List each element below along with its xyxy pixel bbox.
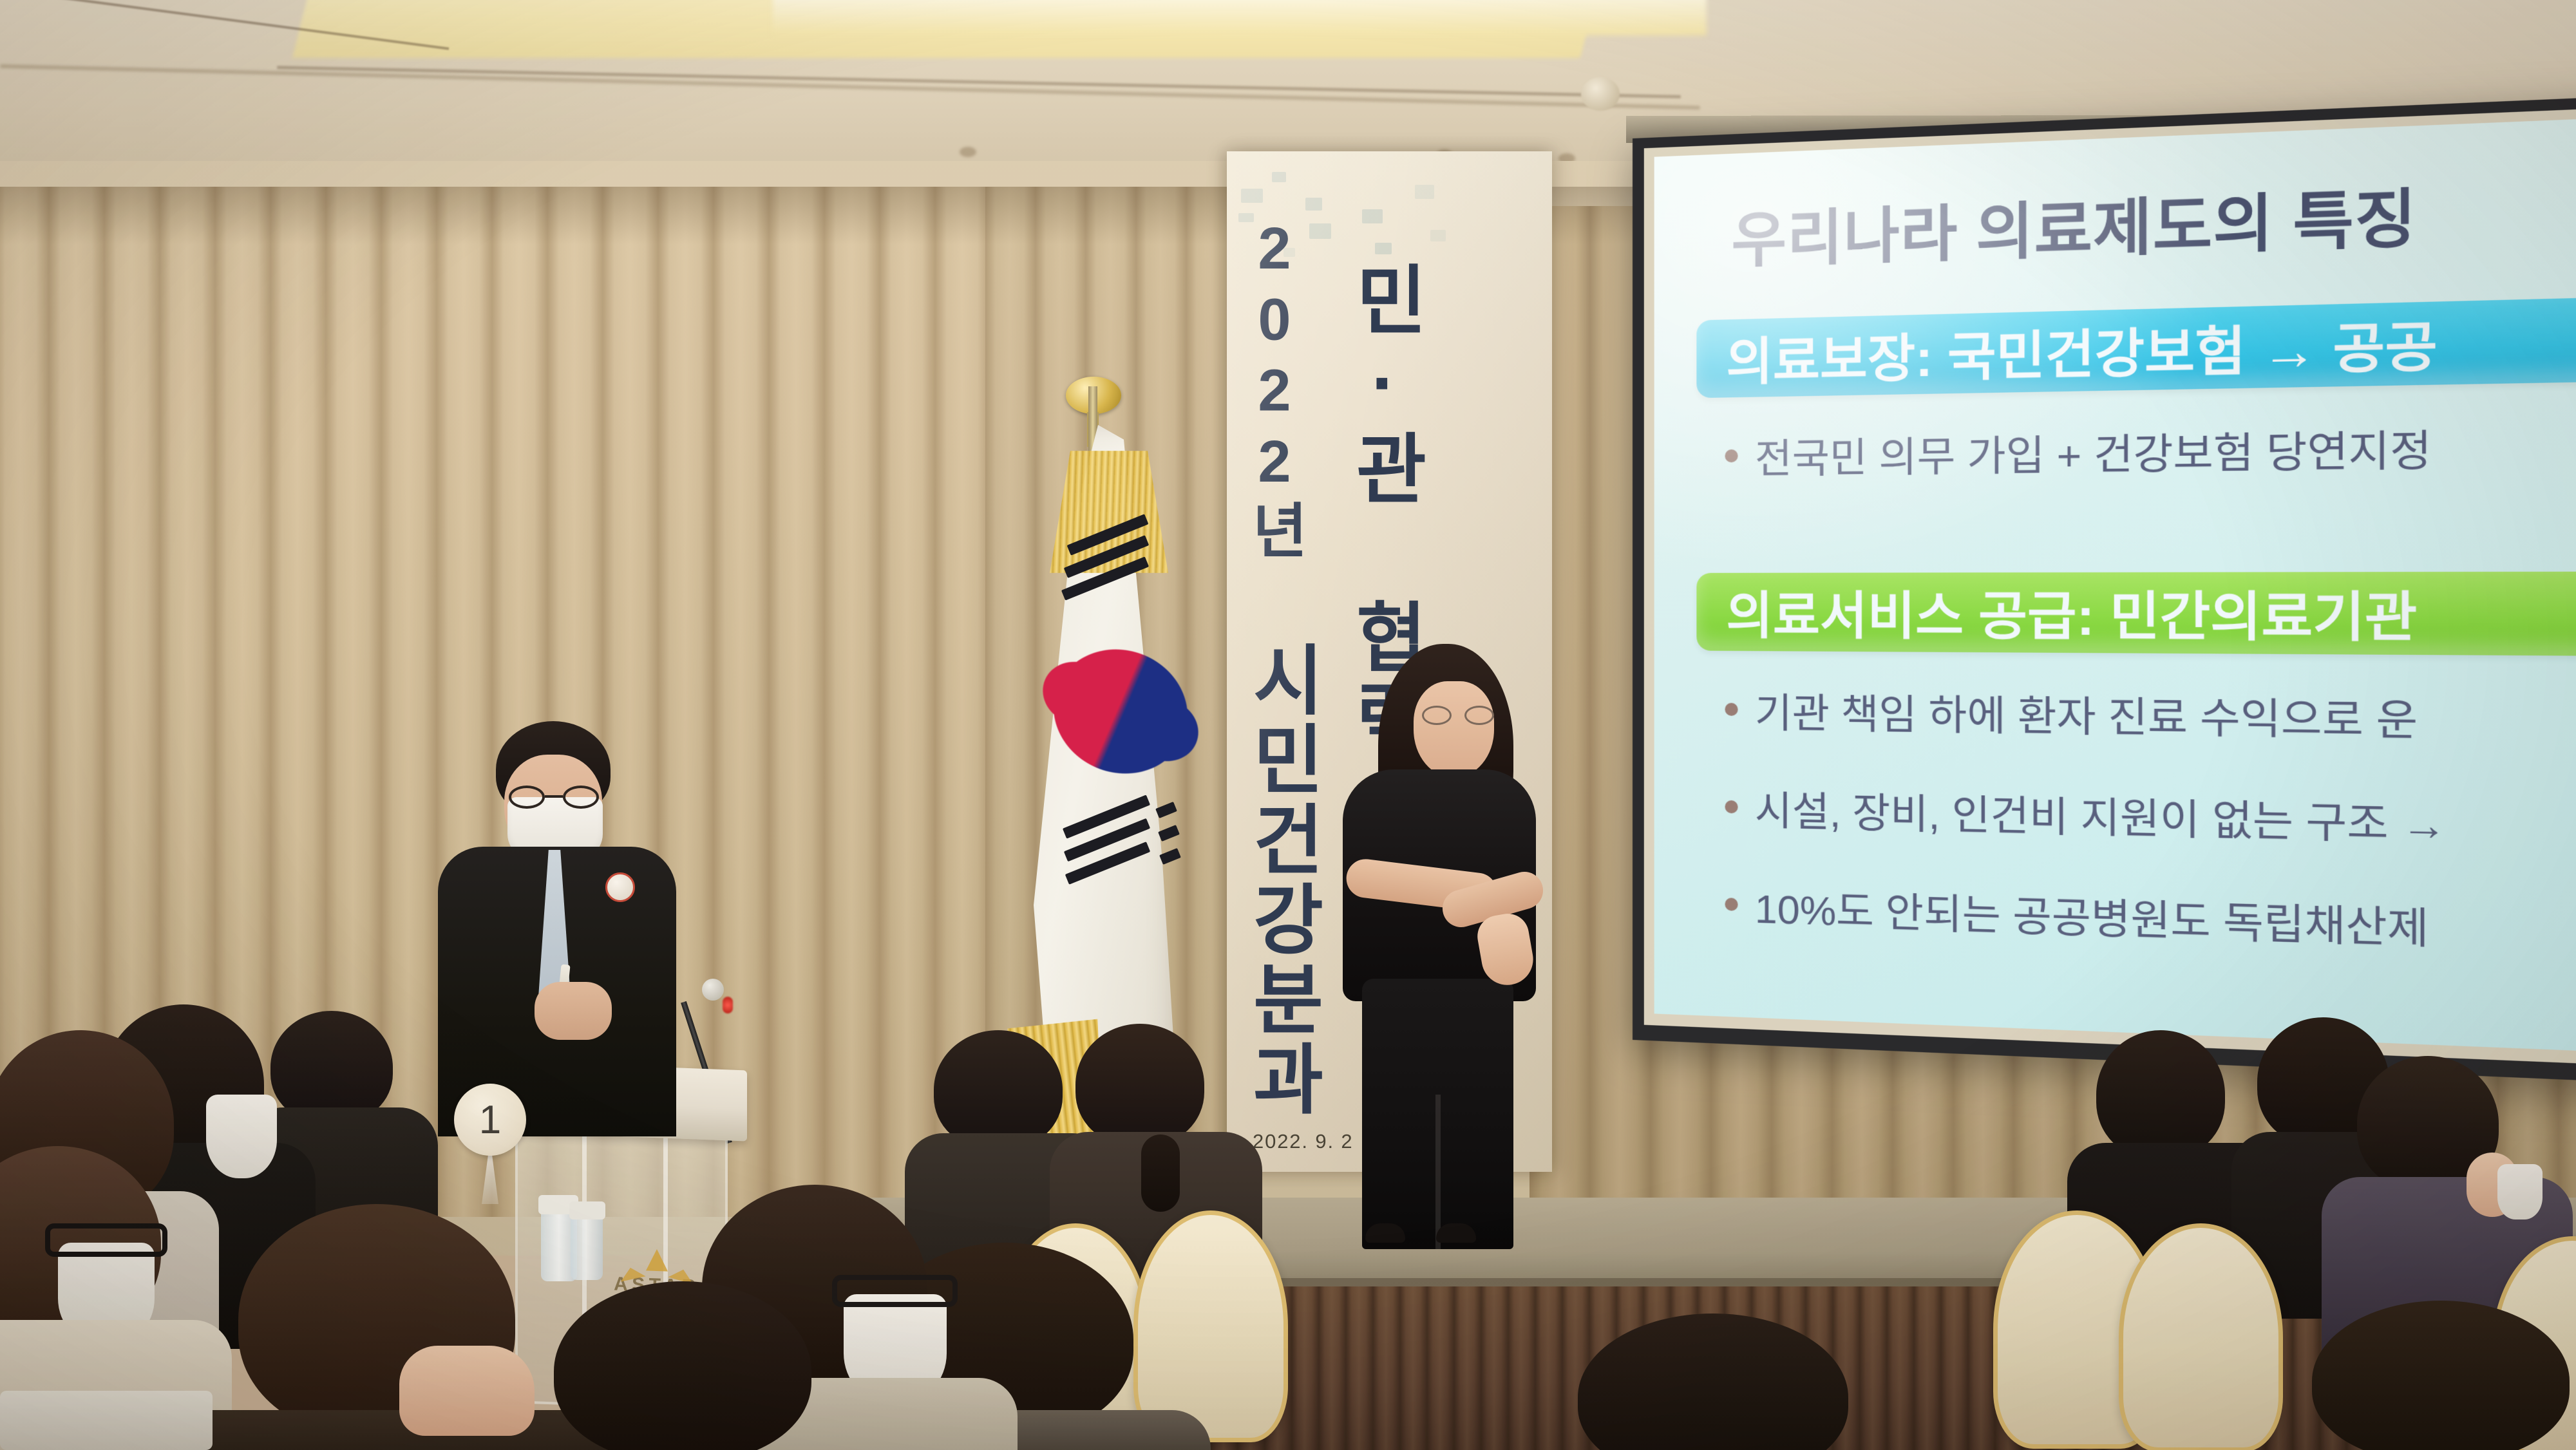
glasses-lens-left	[1422, 706, 1452, 725]
slide-bullet-4: 10%도 안되는 공공병원도 독립채산제	[1725, 875, 2429, 956]
bullet-dot-icon	[1725, 703, 1738, 716]
banner-deco-square-7	[1375, 243, 1392, 254]
interpreter-face	[1414, 681, 1494, 778]
face-mask-icon	[2497, 1164, 2543, 1219]
head	[2096, 1030, 2225, 1159]
slide-bullet-1-text: 전국민 의무 가입 + 건강보험 당연지정	[1755, 416, 2432, 485]
banner-year-text: 2022년	[1245, 216, 1304, 564]
banner-deco-square-6	[1362, 209, 1383, 223]
audience-hand	[399, 1346, 535, 1436]
head	[2312, 1301, 2570, 1450]
interpreter-glasses-icon	[1422, 706, 1494, 725]
banner-title-line2: 시민건강분과	[1243, 641, 1319, 1119]
projection-screen-frame: 우리나라 의료제도의 특징 의료보장: 국민건강보험 → 공공 전국민 의무 가…	[1633, 94, 2576, 1085]
glasses-lens-left	[509, 786, 545, 809]
banner-deco-square-9	[1430, 230, 1446, 241]
glasses-lens-right	[563, 786, 599, 809]
audience-foreground-8	[1558, 1313, 1893, 1450]
glasses-bridge	[545, 795, 563, 798]
slide-highlight-bar-health-insurance: 의료보장: 국민건강보험 → 공공	[1696, 294, 2576, 398]
microphone-head-icon	[702, 979, 724, 1001]
head	[1578, 1313, 1848, 1450]
microphone-status-led	[723, 997, 733, 1013]
speaker-hands	[535, 982, 612, 1040]
sign-language-interpreter	[1327, 644, 1552, 1243]
interpreter-trousers	[1362, 979, 1513, 1249]
ceiling-edge-shadow	[0, 64, 1700, 109]
ponytail	[1141, 1135, 1180, 1212]
interpreter-shoe-left	[1365, 1223, 1405, 1243]
eyeglasses-icon	[45, 1223, 167, 1257]
slide-bar-1-label: 의료보장: 국민건강보험 → 공공	[1726, 305, 2438, 395]
speaker-glasses-icon	[509, 786, 599, 809]
interpreter-shoe-right	[1436, 1223, 1476, 1243]
ceiling-seam-main	[277, 66, 1681, 99]
chair-right-2	[2119, 1223, 2283, 1450]
bullet-dot-icon	[1725, 449, 1738, 462]
astar-star-icon	[646, 1248, 668, 1271]
speaker-lapel-badge	[605, 872, 635, 902]
water-bottle-2	[571, 1210, 603, 1280]
handout-paper	[0, 1391, 213, 1450]
slide-bullet-4-text: 10%도 안되는 공공병원도 독립채산제	[1755, 876, 2429, 956]
audience-foreground-7	[535, 1281, 844, 1450]
table-number-card: 1	[454, 1084, 526, 1156]
eyeglasses-icon	[832, 1275, 958, 1307]
bullet-dot-icon	[1725, 800, 1738, 814]
audience-foreground-9	[2293, 1301, 2576, 1450]
ceiling-cove-light-inner	[773, 0, 1707, 35]
slide-bullet-1: 전국민 의무 가입 + 건강보험 당연지정	[1725, 416, 2431, 485]
banner-deco-square-4	[1305, 198, 1322, 211]
ceiling-speaker-icon	[1581, 77, 1620, 111]
conference-hall-photo: 2022년 민·관 협력 시민건강분과 2022. 9. 2 우리나라 의료제도…	[0, 0, 2576, 1450]
slide-highlight-bar-service-supply: 의료서비스 공급: 민간의료기관	[1696, 571, 2576, 657]
slide-bar-2-label: 의료서비스 공급: 민간의료기관	[1726, 574, 2417, 652]
slide-bullet-2-text: 기관 책임 하에 환자 진료 수익으로 운	[1755, 681, 2418, 748]
projection-screen-mat: 우리나라 의료제도의 특징 의료보장: 국민건강보험 → 공공 전국민 의무 가…	[1644, 106, 2576, 1068]
head	[934, 1030, 1063, 1149]
head	[1075, 1024, 1204, 1146]
glasses-lens-right	[1464, 706, 1494, 725]
slide-bullet-3-text: 시설, 장비, 인건비 지원이 없는 구조 →	[1755, 778, 2447, 852]
slide-title: 우리나라 의료제도의 특징	[1732, 167, 2418, 279]
presentation-slide: 우리나라 의료제도의 특징 의료보장: 국민건강보험 → 공공 전국민 의무 가…	[1654, 115, 2576, 1055]
banner-deco-square-5	[1309, 223, 1331, 239]
slide-bullet-2: 기관 책임 하에 환자 진료 수익으로 운	[1725, 680, 2418, 748]
banner-deco-square-2	[1272, 172, 1286, 182]
slide-bullet-3: 시설, 장비, 인건비 지원이 없는 구조 →	[1725, 778, 2447, 853]
bullet-dot-icon	[1725, 898, 1738, 911]
bottle-cap-2	[569, 1201, 605, 1219]
head	[554, 1281, 811, 1450]
banner-deco-square-1	[1241, 189, 1263, 203]
banner-deco-square-8	[1415, 185, 1434, 199]
podium-speaker	[412, 721, 689, 1133]
ceiling-downlight-1	[960, 147, 976, 157]
